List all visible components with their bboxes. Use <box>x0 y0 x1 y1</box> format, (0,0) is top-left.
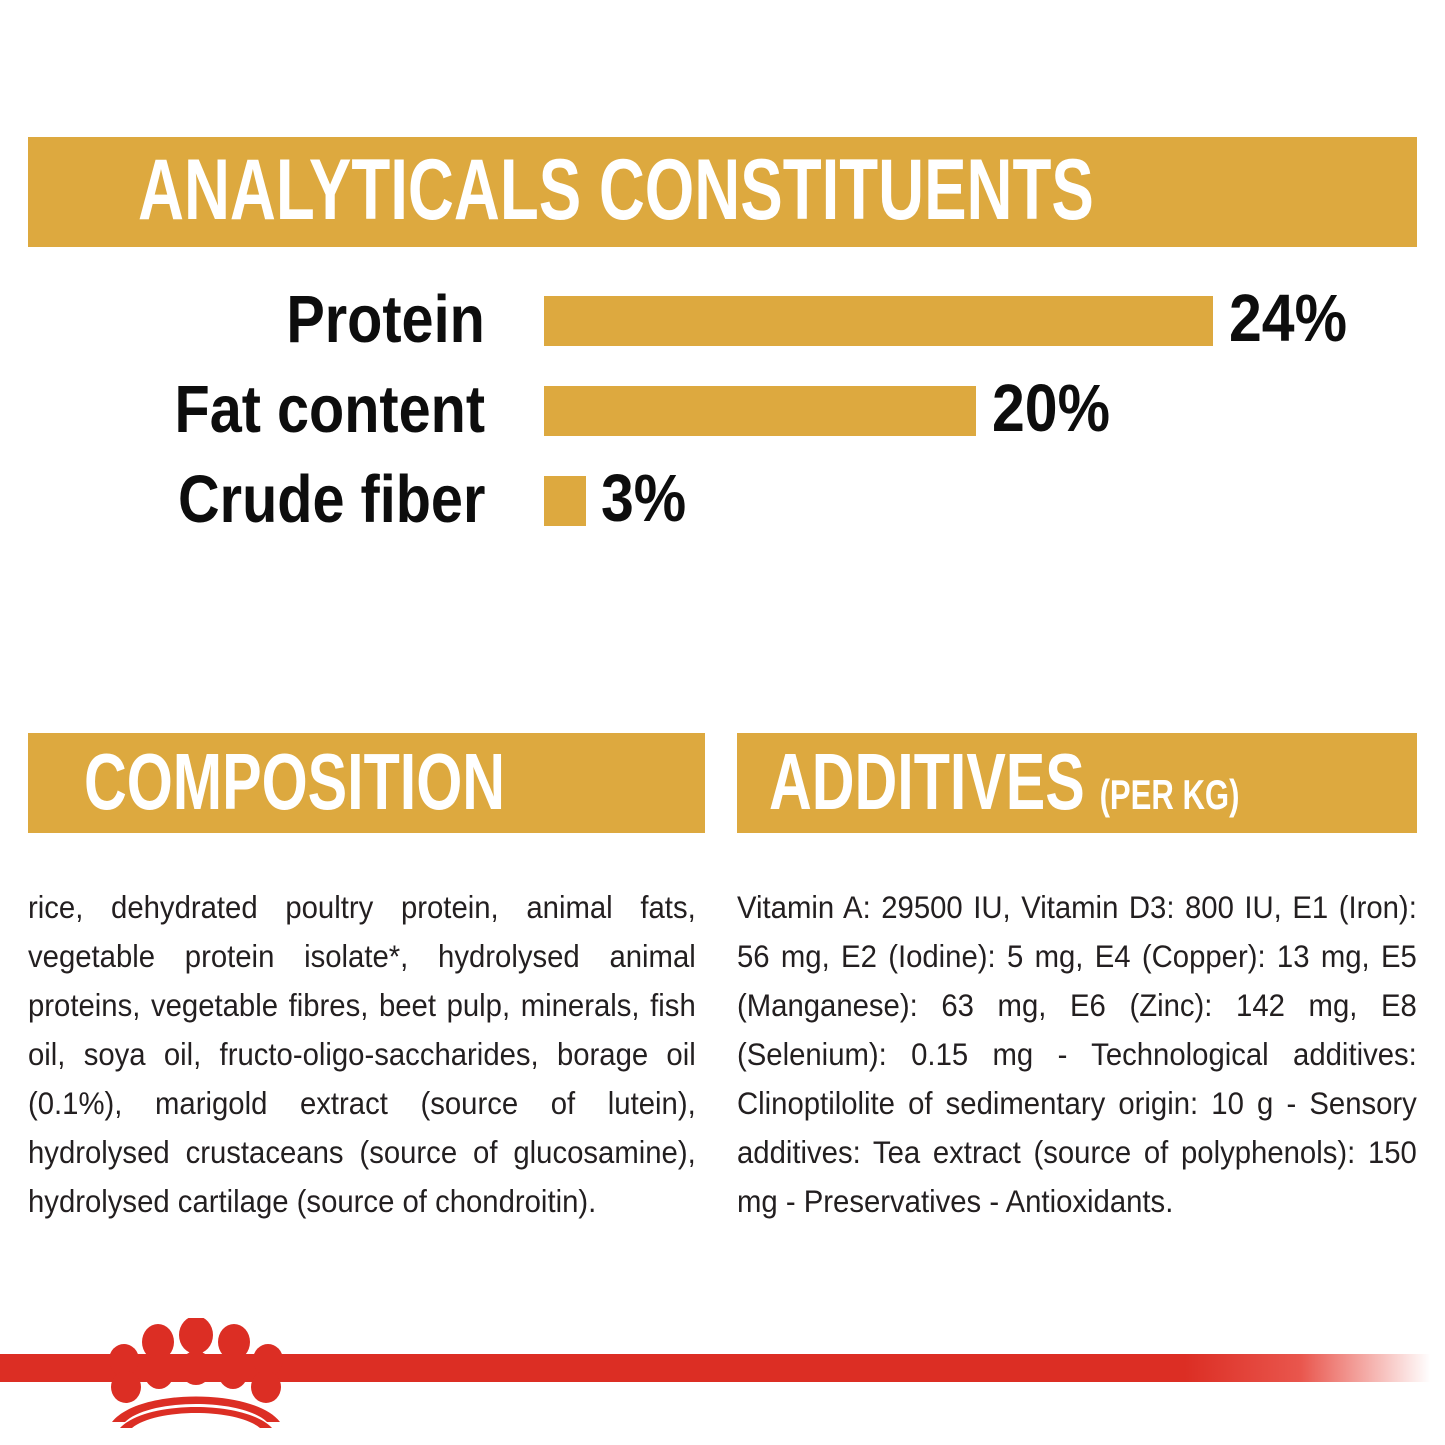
bar-value-fat-content: 20% <box>992 373 1110 449</box>
bar-track-fat-content <box>544 386 976 436</box>
bar-track-crude-fiber <box>544 476 586 526</box>
analyticals-bar-chart: Protein 24% Fat content 20% Crude fiber … <box>0 283 1445 563</box>
bar-label-crude-fiber: Crude fiber <box>178 463 485 539</box>
additives-banner: ADDITIVES (per kg) <box>737 733 1417 833</box>
additives-title: ADDITIVES <box>769 742 1085 822</box>
composition-banner: COMPOSITION <box>28 733 705 833</box>
bar-value-protein: 24% <box>1229 283 1347 359</box>
analyticals-constituents-title: ANALYTICALS CONSTITUENTS <box>138 147 1094 233</box>
bar-track-protein <box>544 296 1213 346</box>
additives-text: Vitamin A: 29500 IU, Vitamin D3: 800 IU,… <box>737 883 1417 1226</box>
composition-text: rice, dehydrated poultry protein, animal… <box>28 883 696 1226</box>
composition-title: COMPOSITION <box>84 742 505 822</box>
bar-value-crude-fiber: 3% <box>601 463 686 539</box>
bar-fill-protein <box>544 296 1213 346</box>
bar-row-protein: Protein 24% <box>0 283 1445 359</box>
bar-label-fat-content: Fat content <box>174 373 485 449</box>
analyticals-constituents-banner: ANALYTICALS CONSTITUENTS <box>28 137 1417 247</box>
royal-canin-crown-logo <box>96 1318 296 1428</box>
additives-per-kg-subtitle: (per kg) <box>1100 774 1240 816</box>
bar-fill-fat-content <box>544 386 976 436</box>
bar-row-fat-content: Fat content 20% <box>0 373 1445 449</box>
bar-fill-crude-fiber <box>544 476 586 526</box>
bar-row-crude-fiber: Crude fiber 3% <box>0 463 1445 539</box>
additives-title-group: ADDITIVES (per kg) <box>769 742 1239 822</box>
bar-label-protein: Protein <box>287 283 485 359</box>
